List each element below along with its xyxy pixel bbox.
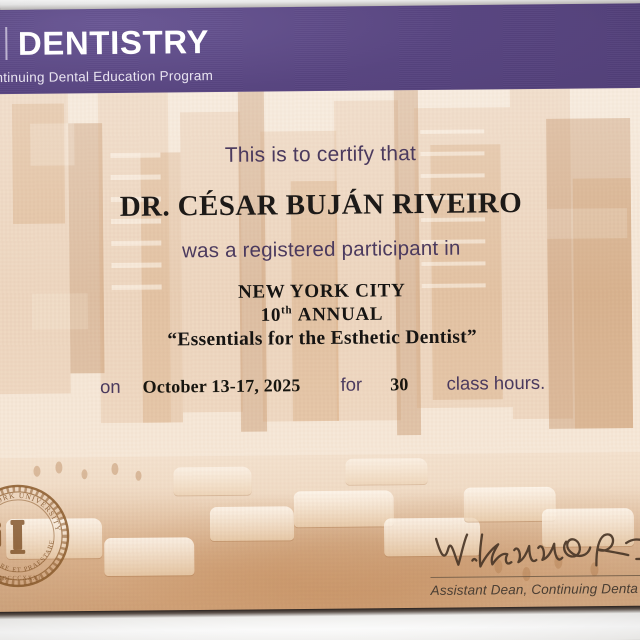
signature-mark <box>430 525 640 575</box>
logo-divider <box>5 27 7 60</box>
hours-statement: on October 13-17, 2025 for 30 class hour… <box>0 371 640 399</box>
svg-text:MDCCCXXXI: MDCCCXXXI <box>0 575 41 582</box>
course-ordinal-number: 10 <box>261 305 282 326</box>
program-subtitle: Continuing Dental Education Program <box>0 68 213 85</box>
course-edition-word: ANNUAL <box>298 304 384 326</box>
certificate-body: This is to certify that DR. CÉSAR BUJÁN … <box>0 88 640 633</box>
signature-title: Assistant Dean, Continuing Denta <box>431 581 640 598</box>
signature-rule <box>430 575 640 579</box>
certificate-sheet: U DENTISTRY Continuing Dental Education … <box>0 2 640 633</box>
participant-line: was a registered participant in <box>0 235 640 265</box>
header-band: U DENTISTRY Continuing Dental Education … <box>0 2 640 94</box>
class-hours-label: class hours. <box>446 372 545 395</box>
signature-block: Assistant Dean, Continuing Denta <box>430 525 640 599</box>
logo-wordmark: DENTISTRY <box>18 25 209 60</box>
photographed-certificate: U DENTISTRY Continuing Dental Education … <box>0 0 640 640</box>
svg-text:NEW YORK UNIVERSITY: NEW YORK UNIVERSITY <box>0 490 63 533</box>
hours-value: 30 <box>390 374 409 395</box>
course-title-line: “Essentials for the Esthetic Dentist” <box>0 325 640 353</box>
recipient-name: DR. CÉSAR BUJÁN RIVEIRO <box>0 186 640 225</box>
on-label: on <box>100 376 121 398</box>
certify-line: This is to certify that <box>0 140 640 170</box>
university-seal: NEW YORK UNIVERSITY PERSTARE ET PRAESTAR… <box>0 483 71 588</box>
date-value: October 13-17, 2025 <box>143 375 301 398</box>
nyu-dentistry-logo: U DENTISTRY <box>0 23 209 61</box>
for-label: for <box>340 374 362 396</box>
course-ordinal-suffix: th <box>281 304 292 316</box>
photo-bottom-edge <box>0 605 640 640</box>
